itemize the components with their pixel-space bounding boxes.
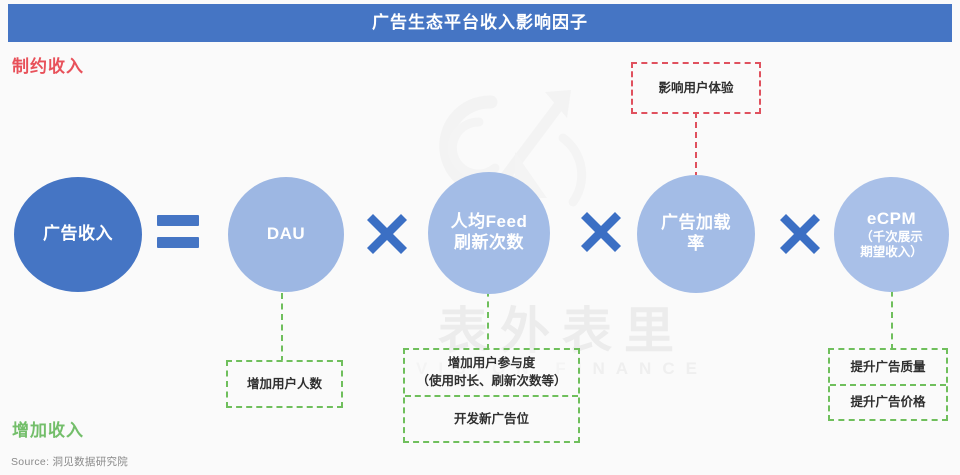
node-ad-revenue[interactable]: 广告收入 (14, 177, 142, 292)
operator-times-1 (364, 211, 410, 257)
annotation-user-experience-impact[interactable]: 影响用户体验 (631, 62, 761, 114)
title-bar: 广告生态平台收入影响因子 (8, 4, 952, 42)
node-ad-load-rate[interactable]: 广告加载 率 (637, 175, 755, 293)
operator-equals (157, 215, 201, 255)
annotation-improve-ad-quality-text: 提升广告质量 (830, 350, 946, 384)
node-ad-load-rate-label-2: 率 (687, 234, 705, 253)
annotation-new-ad-slot-text: 开发新广告位 (405, 395, 578, 442)
node-ecpm-label: eCPM (867, 209, 916, 228)
annotation-increase-engagement[interactable]: 增加用户参与度 （使用时长、刷新次数等） 开发新广告位 (403, 348, 580, 443)
annotation-increase-users[interactable]: 增加用户人数 (226, 360, 343, 408)
annotation-increase-users-text: 增加用户人数 (228, 362, 341, 406)
source-note: Source: 洞见数据研究院 (11, 454, 128, 469)
operator-times-2 (578, 209, 624, 255)
operator-times-3 (777, 211, 823, 257)
annotation-increase-engagement-text: 增加用户参与度 （使用时长、刷新次数等） (405, 350, 578, 395)
annotation-user-experience-impact-text: 影响用户体验 (633, 64, 759, 112)
node-ecpm[interactable]: eCPM （千次展示 期望收入） (834, 177, 949, 292)
node-dau-label: DAU (267, 224, 305, 243)
annotation-improve-ad-value[interactable]: 提升广告质量 提升广告价格 (828, 348, 948, 421)
node-feed-refresh-label-1: 人均Feed (451, 212, 528, 231)
page-title: 广告生态平台收入影响因子 (8, 4, 952, 42)
diagram-canvas: 表外表里 VISION FINANCE 广告生态平台收入影响因子 制约收入 增加… (0, 0, 960, 475)
annotation-improve-ad-price-text: 提升广告价格 (830, 384, 946, 420)
legend-increase-revenue: 增加收入 (12, 416, 84, 441)
legend-constrain-revenue: 制约收入 (12, 52, 84, 77)
node-feed-refresh-label-2: 刷新次数 (454, 233, 524, 252)
node-dau[interactable]: DAU (228, 177, 344, 292)
node-ad-load-rate-label-1: 广告加载 (661, 213, 731, 232)
node-feed-refresh[interactable]: 人均Feed 刷新次数 (428, 172, 550, 294)
node-ad-revenue-label: 广告收入 (43, 224, 113, 243)
node-ecpm-sub-2: 期望收入） (860, 245, 923, 260)
node-ecpm-sub-1: （千次展示 (860, 230, 923, 245)
